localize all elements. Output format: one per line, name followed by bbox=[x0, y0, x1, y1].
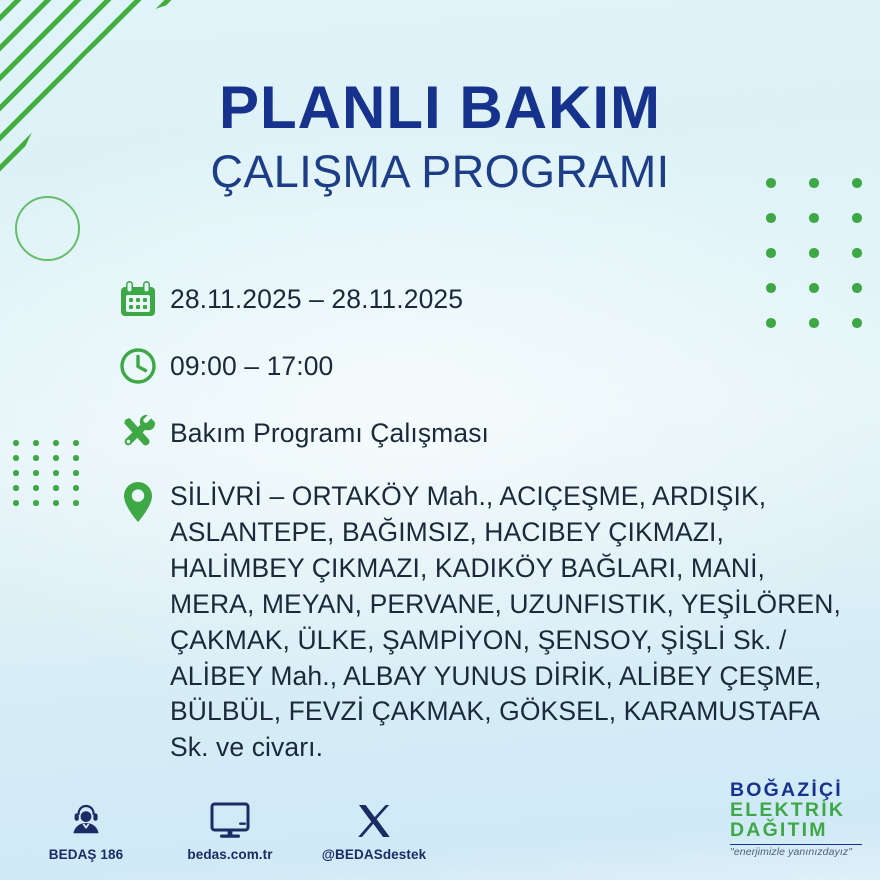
calendar-icon bbox=[118, 276, 170, 322]
decoration-dot bbox=[73, 440, 79, 446]
monitor-icon bbox=[209, 798, 251, 840]
decoration-dot bbox=[73, 500, 79, 506]
logo-divider bbox=[730, 844, 862, 846]
call-center-agent-icon bbox=[66, 798, 106, 840]
clock-icon bbox=[118, 343, 170, 389]
time-range-value: 09:00 – 17:00 bbox=[170, 343, 333, 383]
detail-row-time: 09:00 – 17:00 bbox=[118, 343, 858, 389]
decoration-dot bbox=[53, 500, 59, 506]
detail-row-location: SİLİVRİ – ORTAKÖY Mah., ACIÇEŞME, ARDIŞI… bbox=[118, 477, 858, 766]
logo-line-elektrik: ELEKTRİK bbox=[730, 801, 862, 821]
planned-maintenance-poster: PLANLI BAKIM ÇALIŞMA PROGRAMI bbox=[0, 0, 880, 880]
footer-contacts: BEDAŞ 186 bedas.com.tr @BEDASdestek bbox=[40, 798, 420, 862]
decoration-dot bbox=[33, 470, 39, 476]
logo-line-dagitim: DAĞITIM bbox=[730, 821, 862, 841]
decoration-dot bbox=[73, 455, 79, 461]
contact-website-label: bedas.com.tr bbox=[187, 847, 272, 862]
decoration-dot bbox=[766, 248, 776, 258]
decoration-dot bbox=[73, 470, 79, 476]
decoration-dot bbox=[73, 485, 79, 491]
contact-social[interactable]: @BEDASdestek bbox=[328, 798, 420, 862]
decoration-dot bbox=[13, 455, 19, 461]
x-twitter-icon bbox=[355, 798, 393, 840]
decoration-dot bbox=[53, 455, 59, 461]
decoration-dot bbox=[852, 248, 862, 258]
contact-phone-label: BEDAŞ 186 bbox=[49, 847, 123, 862]
location-pin-icon bbox=[118, 477, 170, 523]
circle-outline-decoration bbox=[15, 196, 80, 261]
tools-icon bbox=[118, 410, 170, 456]
poster-header: PLANLI BAKIM ÇALIŞMA PROGRAMI bbox=[0, 78, 880, 195]
decoration-dot bbox=[809, 213, 819, 223]
decoration-dot bbox=[33, 440, 39, 446]
logo-tagline: "enerjimizle yanınızdayız" bbox=[730, 847, 862, 858]
decoration-dot bbox=[13, 500, 19, 506]
page-title: PLANLI BAKIM bbox=[0, 78, 880, 138]
decoration-dot bbox=[53, 485, 59, 491]
detail-row-date: 28.11.2025 – 28.11.2025 bbox=[118, 276, 858, 322]
decoration-dot bbox=[53, 440, 59, 446]
decoration-dot bbox=[13, 440, 19, 446]
work-type-value: Bakım Programı Çalışması bbox=[170, 410, 489, 450]
decoration-dot bbox=[33, 485, 39, 491]
detail-row-work-type: Bakım Programı Çalışması bbox=[118, 410, 858, 456]
dot-grid-left-decoration bbox=[0, 420, 100, 520]
decoration-dot bbox=[53, 470, 59, 476]
bedas-logo: BOĞAZİÇİ ELEKTRİK DAĞITIM "enerjimizle y… bbox=[730, 781, 862, 858]
decoration-dot bbox=[13, 485, 19, 491]
decoration-dot bbox=[852, 213, 862, 223]
page-subtitle: ÇALIŞMA PROGRAMI bbox=[0, 148, 880, 195]
maintenance-details: 28.11.2025 – 28.11.2025 09:00 – 17:00 bbox=[118, 276, 858, 766]
location-value: SİLİVRİ – ORTAKÖY Mah., ACIÇEŞME, ARDIŞI… bbox=[170, 477, 842, 766]
decoration-dot bbox=[33, 455, 39, 461]
date-range-value: 28.11.2025 – 28.11.2025 bbox=[170, 276, 463, 316]
contact-website[interactable]: bedas.com.tr bbox=[184, 798, 276, 862]
decoration-dot bbox=[766, 213, 776, 223]
decoration-dot bbox=[13, 470, 19, 476]
contact-social-label: @BEDASdestek bbox=[322, 847, 426, 862]
contact-phone[interactable]: BEDAŞ 186 bbox=[40, 798, 132, 862]
decoration-dot bbox=[33, 500, 39, 506]
decoration-dot bbox=[809, 248, 819, 258]
